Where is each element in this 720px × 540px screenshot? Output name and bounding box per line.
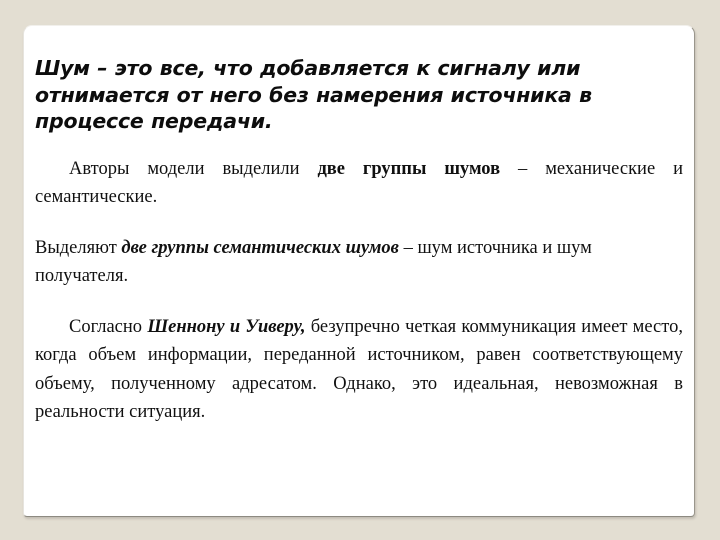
paragraph-2-emphasis: две группы шумов [317,159,500,179]
paragraph-semantic-noise: Выделяют две группы семантических шумов … [33,234,687,290]
paragraph-3-emphasis: две группы семантических шумов [121,238,399,258]
slide-canvas: Шум – это все, что добавляется к сигналу… [0,0,720,540]
paragraph-authors-model: Авторы модели выделили две группы шумов … [33,155,687,211]
paragraph-2-lead: Авторы модели выделили [69,159,317,179]
heading-paragraph: Шум – это все, что добавляется к сигналу… [33,34,687,135]
paragraph-4-emphasis: Шеннону и Уиверу, [147,317,305,337]
paragraph-4-lead: Согласно [69,317,147,337]
content-card: Шум – это все, что добавляется к сигналу… [23,25,695,517]
paragraph-shannon-weaver: Согласно Шеннону и Уиверу, безупречно че… [33,313,687,425]
slide-text-body: Шум – это все, что добавляется к сигналу… [33,34,687,426]
paragraph-3-lead: Выделяют [35,238,121,258]
